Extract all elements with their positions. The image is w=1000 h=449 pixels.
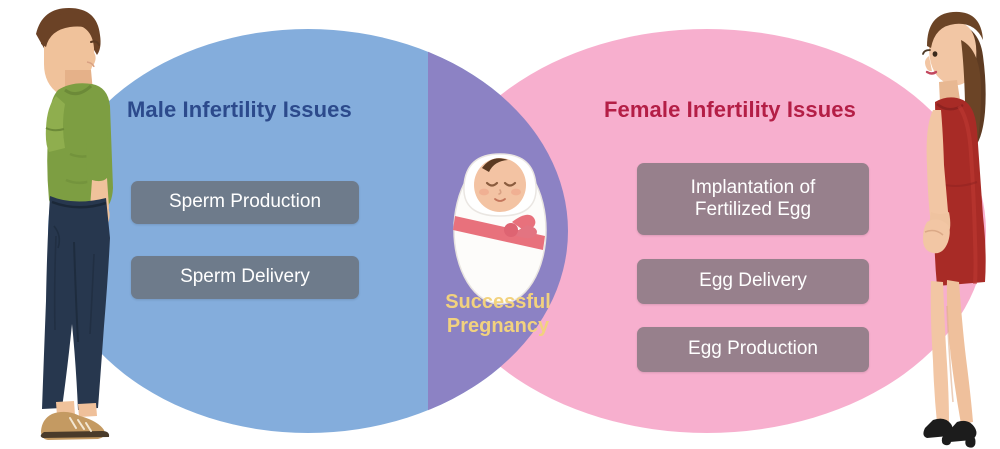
female-factor-chip: Egg Delivery <box>637 259 869 304</box>
female-factor-chip: Implantation of Fertilized Egg <box>637 163 869 235</box>
male-section-title: Male Infertility Issues <box>127 97 352 123</box>
intersection-caption-line-1: Successful <box>418 291 578 315</box>
male-factor-chip: Sperm Delivery <box>131 256 359 299</box>
intersection-caption-line-2: Pregnancy <box>418 315 578 339</box>
standing-woman-illustration <box>905 6 997 447</box>
standing-man-illustration <box>8 4 126 447</box>
male-factor-chip: Sperm Production <box>131 181 359 224</box>
infertility-venn-diagram: Male Infertility Issues Female Infertili… <box>0 0 1000 449</box>
swaddled-baby-icon <box>440 138 560 308</box>
female-factor-chip: Egg Production <box>637 327 869 372</box>
female-section-title: Female Infertility Issues <box>604 97 856 123</box>
intersection-caption: Successful Pregnancy <box>418 291 578 338</box>
